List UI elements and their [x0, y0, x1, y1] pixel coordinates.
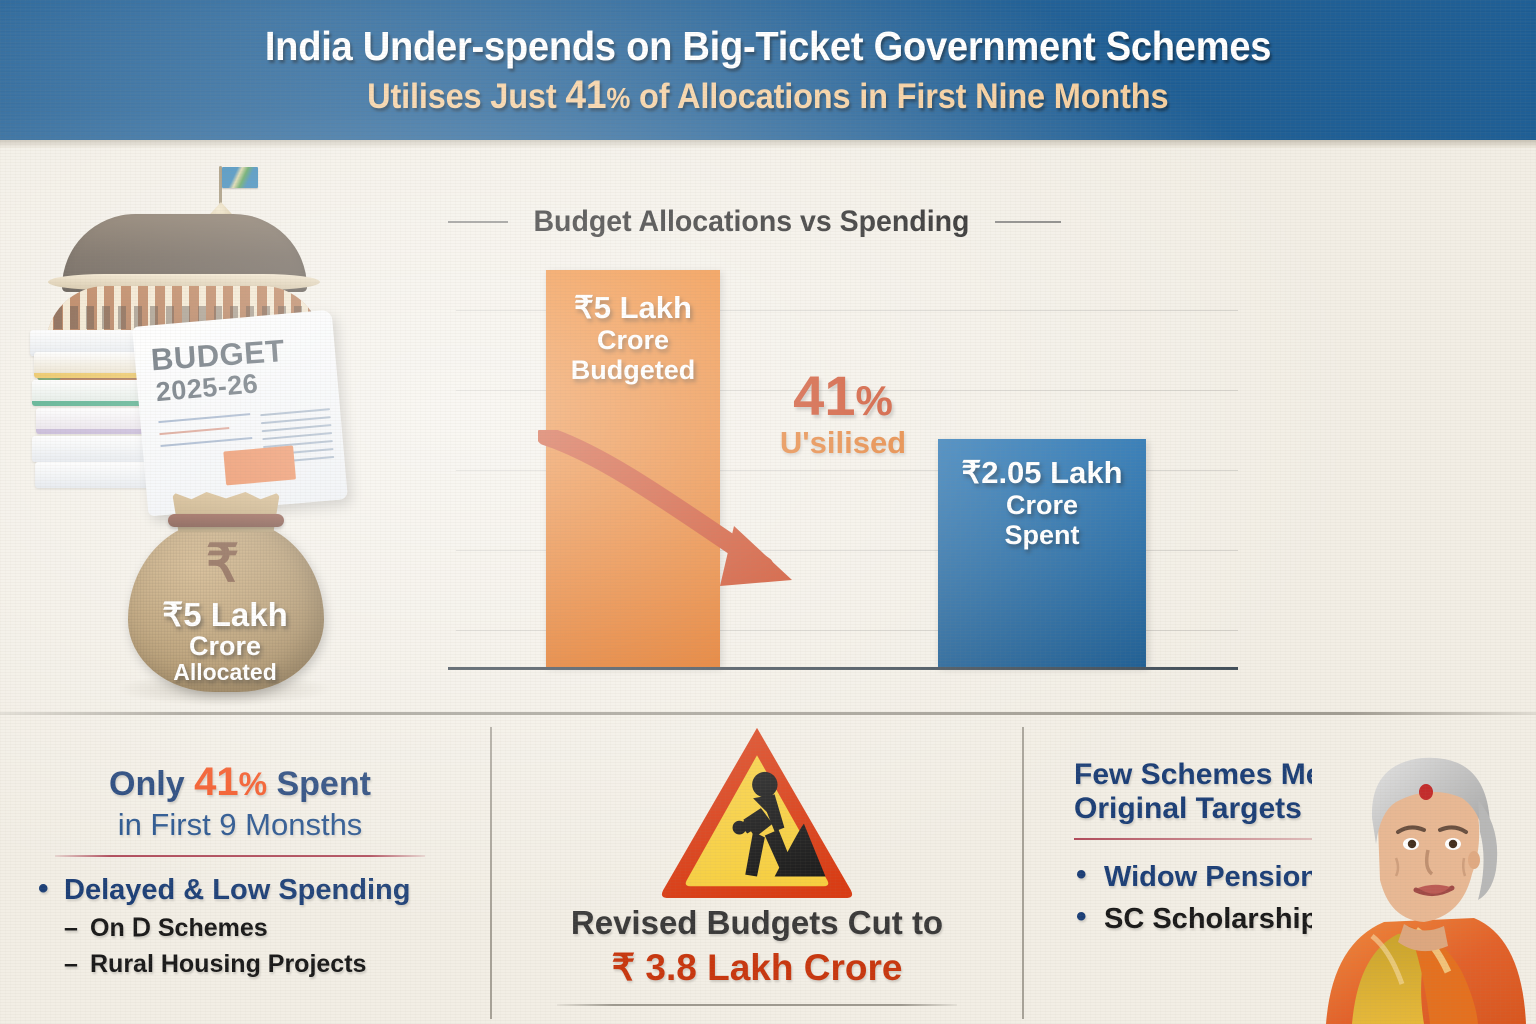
- panel-spending: Only 41% Spent in First 9 Monsths Delaye…: [0, 760, 480, 1024]
- header-banner: India Under-spends on Big-Ticket Governm…: [0, 0, 1536, 140]
- doc-rule: [158, 413, 250, 423]
- elderly-woman-portrait: [1312, 740, 1530, 1024]
- header-underline: [0, 140, 1536, 148]
- chart-header: Budget Allocations vs Spending: [448, 205, 1238, 239]
- revised-line1: Revised Budgets Cut to: [494, 904, 1020, 942]
- doc-rule: [159, 427, 229, 435]
- rupee-symbol-icon: ₹: [206, 538, 239, 590]
- bar-spent-label: ₹2.05 Lakh Crore Spent: [938, 457, 1146, 550]
- page-title: India Under-spends on Big-Ticket Governm…: [265, 23, 1271, 70]
- chart-plot-area: ₹5 Lakh Crore Budgeted ₹2.05 Lakh Crore …: [448, 270, 1238, 670]
- doc-rule: [160, 437, 252, 447]
- bar-spent-state: Spent: [944, 520, 1140, 550]
- spending-head-pct: 41: [194, 760, 239, 804]
- sub-bullet: On Ⅾ Schemes: [38, 913, 480, 944]
- panel-spending-rule: [55, 855, 425, 857]
- chart-title-rule-right: [995, 221, 1061, 223]
- subtitle-pre: Utilises Just: [367, 77, 565, 116]
- utilisation-pct-value: 41: [793, 364, 855, 427]
- panel-targets: Few Schemes Met Original Targets Widow P…: [1026, 748, 1536, 1024]
- page-subtitle: Utilises Just 41% of Allocations in Firs…: [367, 73, 1168, 118]
- utilisation-pct: 41%: [748, 368, 938, 424]
- vertical-divider-left: [490, 727, 492, 1019]
- subtitle-post: of Allocations in First Nine Months: [630, 77, 1168, 116]
- chart-title: Budget Allocations vs Spending: [533, 205, 969, 239]
- panel-spending-bullets: Delayed & Low Spending On Ⅾ Schemes Rura…: [0, 873, 480, 980]
- horizontal-divider: [0, 712, 1536, 715]
- subtitle-pct-value: 41: [566, 73, 607, 117]
- bar-spent: ₹2.05 Lakh Crore Spent: [938, 439, 1146, 667]
- infographic-root: India Under-spends on Big-Ticket Governm…: [0, 0, 1536, 1024]
- spending-head-post: Spent: [267, 765, 371, 803]
- utilisation-callout: 41% U'silised: [748, 368, 938, 460]
- panel-revised-text: Revised Budgets Cut to ₹ 3.8 Lakh Crore: [494, 904, 1020, 1006]
- chart-baseline-axis: [448, 667, 1238, 670]
- sub-bullet: Rural Housing Projects: [38, 949, 480, 980]
- panel-spending-header: Only 41% Spent in First 9 Monsths: [0, 760, 480, 843]
- spending-head-pct-sign: %: [239, 766, 267, 802]
- bar-budgeted-amount: ₹5 Lakh: [552, 292, 714, 325]
- utilisation-word: U'silised: [748, 426, 938, 460]
- panel-spending-headline: Only 41% Spent: [0, 760, 480, 804]
- bar-chart: Budget Allocations vs Spending ₹5 Lakh C…: [448, 150, 1536, 710]
- bar-budgeted-unit: Crore: [552, 325, 714, 355]
- revised-line2: ₹ 3.8 Lakh Crore: [494, 946, 1020, 990]
- subtitle-pct-sign: %: [607, 83, 631, 115]
- spending-head-pre: Only: [109, 765, 194, 803]
- panel-spending-subhead: in First 9 Monsths: [0, 806, 480, 843]
- bar-spent-unit: Crore: [944, 490, 1140, 520]
- utilisation-pct-sign: %: [855, 377, 892, 424]
- bullet-main: Delayed & Low Spending: [38, 873, 480, 908]
- panel-revised-rule: [557, 1004, 957, 1006]
- bag-tie: [168, 514, 284, 527]
- bag-state: Allocated: [120, 660, 330, 685]
- parliament-building-icon: [22, 162, 342, 327]
- bar-budgeted-state: Budgeted: [552, 355, 714, 385]
- indian-flag-icon: [222, 167, 258, 188]
- bag-unit: Crore: [120, 632, 330, 661]
- vertical-divider-right: [1022, 727, 1024, 1019]
- panel-targets-rule: [1074, 838, 1346, 840]
- bar-spent-amount: ₹2.05 Lakh: [944, 457, 1140, 490]
- left-illustration-column: BUDGET 2025-26 ₹ ₹5 Lakh Crore Allocated: [0, 150, 470, 710]
- bag-amount: ₹5 Lakh: [120, 598, 330, 632]
- money-bag-label: ₹5 Lakh Crore Allocated: [120, 598, 330, 686]
- road-work-warning-icon: [659, 722, 855, 900]
- money-bag-icon: ₹ ₹5 Lakh Crore Allocated: [120, 480, 330, 710]
- panel-revised-budgets: Revised Budgets Cut to ₹ 3.8 Lakh Crore: [494, 722, 1020, 1022]
- bar-budgeted-label: ₹5 Lakh Crore Budgeted: [546, 292, 720, 385]
